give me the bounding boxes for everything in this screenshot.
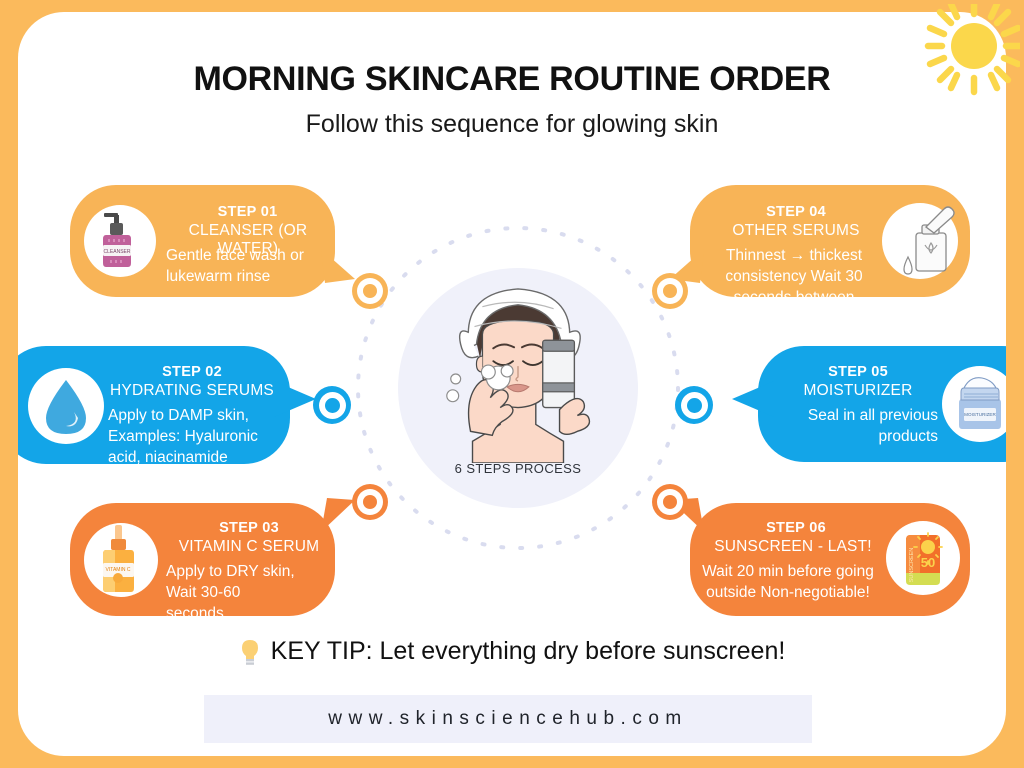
step-02-icon-badge	[28, 368, 104, 444]
step-01-icon-badge: CLEANSER	[84, 205, 156, 277]
step-04-number: STEP 04	[714, 204, 878, 220]
connector-ring-06[interactable]	[652, 484, 688, 520]
step-02-bubble-tail	[274, 379, 318, 419]
poster-canvas: MORNING SKINCARE ROUTINE ORDER Follow th…	[18, 12, 1006, 756]
step-01-number: STEP 01	[170, 204, 325, 220]
step-06-icon-badge: 50 SUNSCREEN	[886, 521, 960, 595]
woman-washing-face-icon	[438, 283, 598, 463]
website-url: www.skinsciencehub.com	[328, 708, 687, 730]
step-05-icon-badge: MOISTURIZER	[942, 366, 1006, 442]
infographic-poster: MORNING SKINCARE ROUTINE ORDER Follow th…	[0, 0, 1024, 768]
serum-dropper-bottle-icon	[882, 203, 958, 279]
lightbulb-icon	[239, 638, 261, 666]
svg-text:50: 50	[921, 555, 935, 570]
sunscreen-tube-icon: 50 SUNSCREEN	[886, 521, 960, 595]
page-subtitle: Follow this sequence for glowing skin	[18, 110, 1006, 139]
step-card-02[interactable]: STEP 02 HYDRATING SERUMS Apply to DAMP s…	[18, 346, 290, 464]
step-05-bubble-tail	[730, 379, 774, 419]
svg-text:SUNSCREEN: SUNSCREEN	[909, 548, 915, 583]
step-card-01[interactable]: CLEANSER STEP 01 CLEANSER (OR WATER) Gen…	[70, 185, 335, 297]
vitamin-c-dropper-bottle-icon: VITAMIN C	[84, 523, 158, 597]
step-03-number: STEP 03	[170, 520, 328, 536]
center-label: 6 STEPS PROCESS	[398, 461, 638, 476]
step-06-number: STEP 06	[714, 520, 878, 536]
step-03-icon-badge: VITAMIN C	[84, 523, 158, 597]
step-05-name: MOISTURIZER	[778, 382, 938, 400]
key-tip-text: KEY TIP: Let everything dry before sunsc…	[271, 637, 786, 666]
step-02-description: Apply to DAMP skin, Examples: Hyaluronic…	[108, 405, 283, 464]
step-02-number: STEP 02	[112, 364, 272, 380]
key-tip-row: KEY TIP: Let everything dry before sunsc…	[18, 637, 1006, 666]
step-04-icon-badge	[882, 203, 958, 279]
step-05-description: Seal in all previous products	[766, 405, 938, 447]
step-06-description: Wait 20 min before going outside Non-neg…	[698, 561, 878, 603]
step-03-name: VITAMIN C SERUM	[166, 538, 332, 556]
step-02-name: HYDRATING SERUMS	[108, 382, 276, 400]
step-04-description: Thinnest → thickest consistency Wait 30 …	[706, 245, 882, 297]
step-05-number: STEP 05	[778, 364, 938, 380]
svg-text:VITAMIN C: VITAMIN C	[106, 567, 131, 573]
step-card-06[interactable]: 50 SUNSCREEN STEP 06 SUNSCREEN - LAST! W…	[690, 503, 970, 616]
step-card-03[interactable]: VITAMIN C STEP 03 VITAMIN C SERUM Apply …	[70, 503, 335, 616]
connector-ring-02[interactable]	[313, 386, 351, 424]
sun-icon	[916, 4, 1020, 100]
svg-text:MOISTURIZER: MOISTURIZER	[964, 412, 996, 417]
page-title: MORNING SKINCARE ROUTINE ORDER	[18, 60, 1006, 99]
step-card-04[interactable]: STEP 04 OTHER SERUMS Thinnest → thickest…	[690, 185, 970, 297]
cleanser-pump-bottle-icon: CLEANSER	[84, 205, 156, 277]
step-01-description: Gentle face wash or lukewarm rinse	[166, 245, 334, 287]
water-droplet-icon	[28, 368, 104, 444]
connector-ring-05[interactable]	[675, 386, 713, 424]
svg-text:CLEANSER: CLEANSER	[104, 249, 131, 255]
connector-ring-03[interactable]	[352, 484, 388, 520]
step-06-name: SUNSCREEN - LAST!	[708, 538, 878, 556]
step-03-description: Apply to DRY skin, Wait 30-60 seconds	[166, 561, 296, 616]
moisturizer-jar-icon: MOISTURIZER	[942, 366, 1006, 442]
website-url-bar[interactable]: www.skinsciencehub.com	[204, 695, 812, 743]
connector-ring-04[interactable]	[652, 273, 688, 309]
connector-ring-01[interactable]	[352, 273, 388, 309]
step-04-name: OTHER SERUMS	[714, 222, 878, 240]
step-card-05[interactable]: MOISTURIZER STEP 05 MOISTURIZER Seal in …	[758, 346, 1006, 462]
